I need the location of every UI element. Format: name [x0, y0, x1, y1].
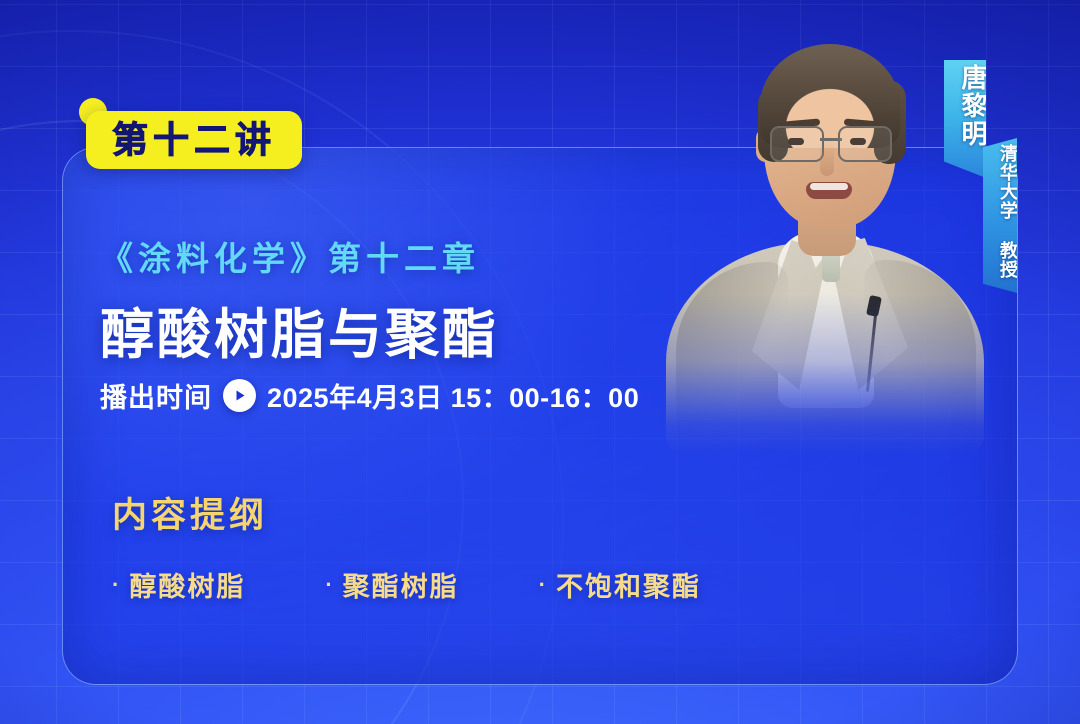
play-icon[interactable] [223, 379, 256, 412]
eye-right [850, 138, 866, 145]
list-item: · 醇酸树脂 [112, 565, 245, 604]
page-title: 醇酸树脂与聚酯 [100, 290, 499, 369]
bullet-icon: · [112, 574, 121, 596]
lecture-number-badge: 第十二讲 [86, 111, 302, 169]
eyebrow-right [844, 118, 880, 128]
airtime-label: 播出时间 [100, 376, 212, 415]
lecture-number-label: 第十二讲 [112, 122, 276, 158]
course-subtitle: 《涂料化学》第十二章 [100, 232, 480, 280]
outline-list: · 醇酸树脂 · 聚酯树脂 · 不饱和聚酯 [112, 565, 701, 604]
list-item-label: 聚酯树脂 [343, 565, 459, 604]
list-item-label: 不饱和聚酯 [556, 565, 701, 604]
outline-heading: 内容提纲 [112, 487, 268, 538]
list-item: · 聚酯树脂 [325, 565, 458, 604]
bullet-icon: · [325, 574, 334, 596]
airtime-value: 2025年4月3日 15：00-16：00 [267, 376, 639, 415]
speaker-name: 唐黎明 [944, 64, 986, 148]
airtime-row: 播出时间 2025年4月3日 15：00-16：00 [100, 376, 639, 415]
hair-shape [760, 44, 900, 148]
eyebrow-left [784, 118, 820, 128]
content-panel [62, 147, 1018, 685]
list-item: · 不饱和聚酯 [539, 565, 701, 604]
speaker-name-ribbon: 唐黎明 [944, 60, 986, 178]
lecture-promo-card: 唐黎明 清华大学 教授 第十二讲 《涂料化学》第十二章 醇酸树脂与聚酯 播出时间… [0, 0, 1080, 724]
speaker-affiliation: 清华大学 教授 [983, 144, 1017, 279]
bullet-icon: · [539, 574, 548, 596]
eye-left [788, 138, 804, 145]
list-item-label: 醇酸树脂 [129, 565, 245, 604]
glasses-bridge [820, 138, 842, 141]
speaker-affiliation-ribbon: 清华大学 教授 [983, 138, 1017, 293]
